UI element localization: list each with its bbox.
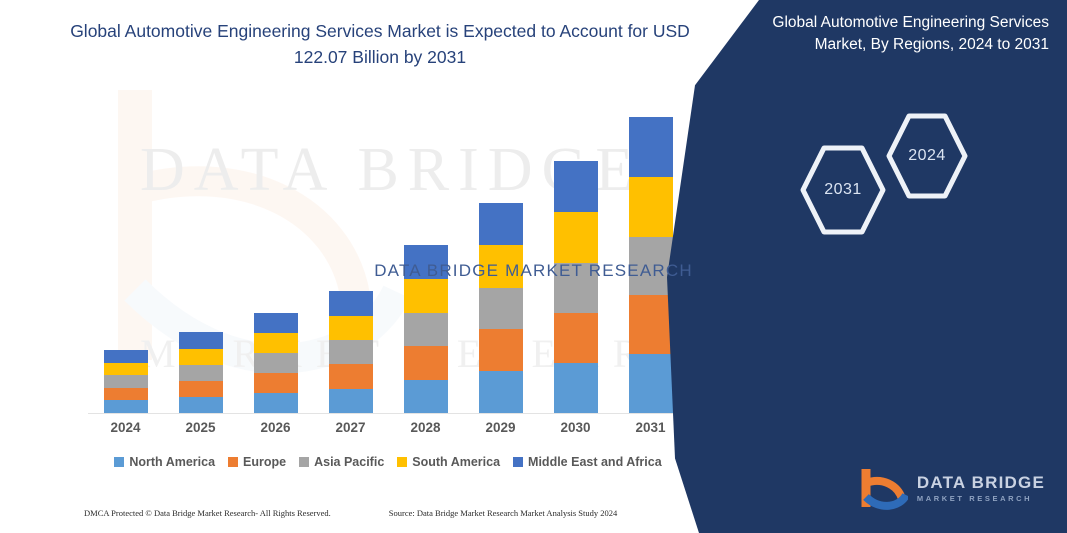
legend-label: South America [412, 455, 500, 469]
bar-segment[interactable] [254, 393, 298, 413]
bar-segment[interactable] [329, 364, 373, 389]
legend-label: Middle East and Africa [528, 455, 662, 469]
bar-segment[interactable] [179, 381, 223, 397]
bar-segment[interactable] [629, 295, 673, 354]
brand-logo-line1: DATA BRIDGE [917, 474, 1045, 491]
hexagon-end-year-label: 2031 [824, 181, 862, 199]
bar-segment[interactable] [479, 288, 523, 329]
bar-segment[interactable] [179, 349, 223, 365]
legend-swatch [228, 457, 238, 467]
stacked-bar[interactable] [554, 161, 598, 413]
legend-swatch [299, 457, 309, 467]
brand-logo-line2: MARKET RESEARCH [917, 495, 1045, 503]
x-axis-tick: 2030 [538, 420, 613, 435]
x-axis-tick: 2029 [463, 420, 538, 435]
bar-segment[interactable] [329, 316, 373, 341]
legend-item[interactable]: Europe [228, 455, 286, 469]
bar-segment[interactable] [254, 353, 298, 373]
stacked-bar[interactable] [329, 291, 373, 413]
hexagon-group: 2024 2031 [779, 108, 1009, 218]
hexagon-end-year: 2031 [793, 140, 893, 240]
bar-segment[interactable] [404, 380, 448, 413]
bar-segment[interactable] [554, 212, 598, 262]
x-axis-tick: 2026 [238, 420, 313, 435]
brand-logo-mark-icon [860, 465, 908, 511]
bar-segment[interactable] [254, 333, 298, 353]
x-axis-tick: 2025 [163, 420, 238, 435]
bar-segment[interactable] [629, 117, 673, 177]
bar-segment[interactable] [404, 313, 448, 346]
bar-segment[interactable] [479, 203, 523, 245]
hexagon-start-year-label: 2024 [908, 147, 946, 165]
right-panel-brand: DATA BRIDGE MARKET RESEARCH [0, 258, 1067, 284]
bar-segment[interactable] [329, 340, 373, 364]
bar-segment[interactable] [479, 329, 523, 371]
bar-segment[interactable] [179, 365, 223, 381]
x-axis-tick: 2024 [88, 420, 163, 435]
bar-segment[interactable] [554, 363, 598, 413]
legend-label: Europe [243, 455, 286, 469]
bar-segment[interactable] [629, 177, 673, 236]
brand-logo: DATA BRIDGE MARKET RESEARCH [860, 465, 1045, 511]
bar-segment[interactable] [479, 371, 523, 413]
x-axis-tick: 2028 [388, 420, 463, 435]
bar-segment[interactable] [254, 313, 298, 333]
x-axis-tick: 2027 [313, 420, 388, 435]
legend-swatch [513, 457, 523, 467]
legend-item[interactable]: South America [397, 455, 500, 469]
bar-segment[interactable] [254, 373, 298, 393]
stacked-bar[interactable] [179, 332, 223, 413]
stacked-bar[interactable] [104, 350, 148, 413]
right-panel-title: Global Automotive Engineering Services M… [759, 12, 1049, 57]
bar-segment[interactable] [329, 389, 373, 413]
stacked-bar[interactable] [479, 203, 523, 413]
x-axis-tick-labels: 20242025202620272028202920302031 [88, 420, 688, 435]
bar-segment[interactable] [104, 400, 148, 413]
footer: DMCA Protected © Data Bridge Market Rese… [84, 508, 694, 518]
bar-segment[interactable] [104, 388, 148, 401]
legend-item[interactable]: North America [114, 455, 215, 469]
stacked-bar[interactable] [254, 313, 298, 413]
bar-segment[interactable] [554, 161, 598, 212]
footer-copyright: DMCA Protected © Data Bridge Market Rese… [84, 508, 331, 518]
legend-label: Asia Pacific [314, 455, 384, 469]
footer-source: Source: Data Bridge Market Research Mark… [389, 508, 618, 518]
legend-item[interactable]: Asia Pacific [299, 455, 384, 469]
bar-segment[interactable] [404, 279, 448, 313]
bar-segment[interactable] [629, 354, 673, 413]
bar-segment[interactable] [179, 332, 223, 348]
legend-label: North America [129, 455, 215, 469]
legend-item[interactable]: Middle East and Africa [513, 455, 662, 469]
bar-segment[interactable] [404, 346, 448, 380]
chart-legend: North AmericaEuropeAsia PacificSouth Ame… [88, 455, 688, 469]
legend-swatch [114, 457, 124, 467]
page-title: Global Automotive Engineering Services M… [60, 18, 700, 71]
bar-segment[interactable] [554, 313, 598, 363]
bar-segment[interactable] [104, 375, 148, 387]
bar-segment[interactable] [104, 350, 148, 363]
infographic-canvas: DATA BRIDGE MARKET RESEARCH Global Autom… [0, 0, 1067, 533]
bar-segment[interactable] [329, 291, 373, 316]
legend-swatch [397, 457, 407, 467]
hexagon-start-year: 2024 [879, 108, 975, 204]
bar-segment[interactable] [179, 397, 223, 413]
bar-segment[interactable] [104, 363, 148, 376]
x-axis-line [88, 413, 688, 414]
